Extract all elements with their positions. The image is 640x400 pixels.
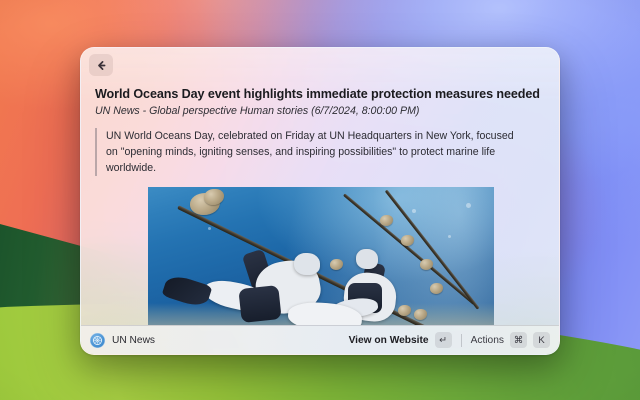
arrow-left-icon <box>96 60 107 71</box>
article-summary: UN World Oceans Day, celebrated on Frida… <box>95 128 515 176</box>
article-hero-image <box>148 187 494 325</box>
diver-hood <box>356 249 378 269</box>
footer-divider <box>461 334 462 347</box>
un-emblem-glyph <box>92 335 103 346</box>
article-image-container <box>148 187 545 325</box>
source-name-label: UN News <box>112 335 155 346</box>
command-key-badge[interactable]: ⌘ <box>510 332 527 348</box>
k-key-badge[interactable]: K <box>533 332 550 348</box>
actions-label: Actions <box>471 335 504 346</box>
view-on-website-label: View on Website <box>349 335 429 346</box>
panel-toolbar <box>81 48 559 82</box>
back-button[interactable] <box>89 54 113 76</box>
article-meta: UN News - Global perspective Human stori… <box>95 105 545 119</box>
diver-hood <box>294 253 320 275</box>
article-header: World Oceans Day event highlights immedi… <box>81 82 559 119</box>
panel-footer: UN News View on Website ↵ Actions ⌘ K <box>81 325 559 354</box>
diver-harness <box>238 285 281 323</box>
article-source: UN News <box>90 333 155 348</box>
view-on-website-action[interactable]: View on Website ↵ <box>349 332 452 348</box>
article-title: World Oceans Day event highlights immedi… <box>95 86 545 102</box>
un-emblem-icon <box>90 333 105 348</box>
return-key-badge[interactable]: ↵ <box>435 332 452 348</box>
desktop-background: World Oceans Day event highlights immedi… <box>0 0 640 400</box>
actions-menu-trigger[interactable]: Actions ⌘ K <box>471 332 550 348</box>
article-preview-panel: World Oceans Day event highlights immedi… <box>80 47 560 355</box>
